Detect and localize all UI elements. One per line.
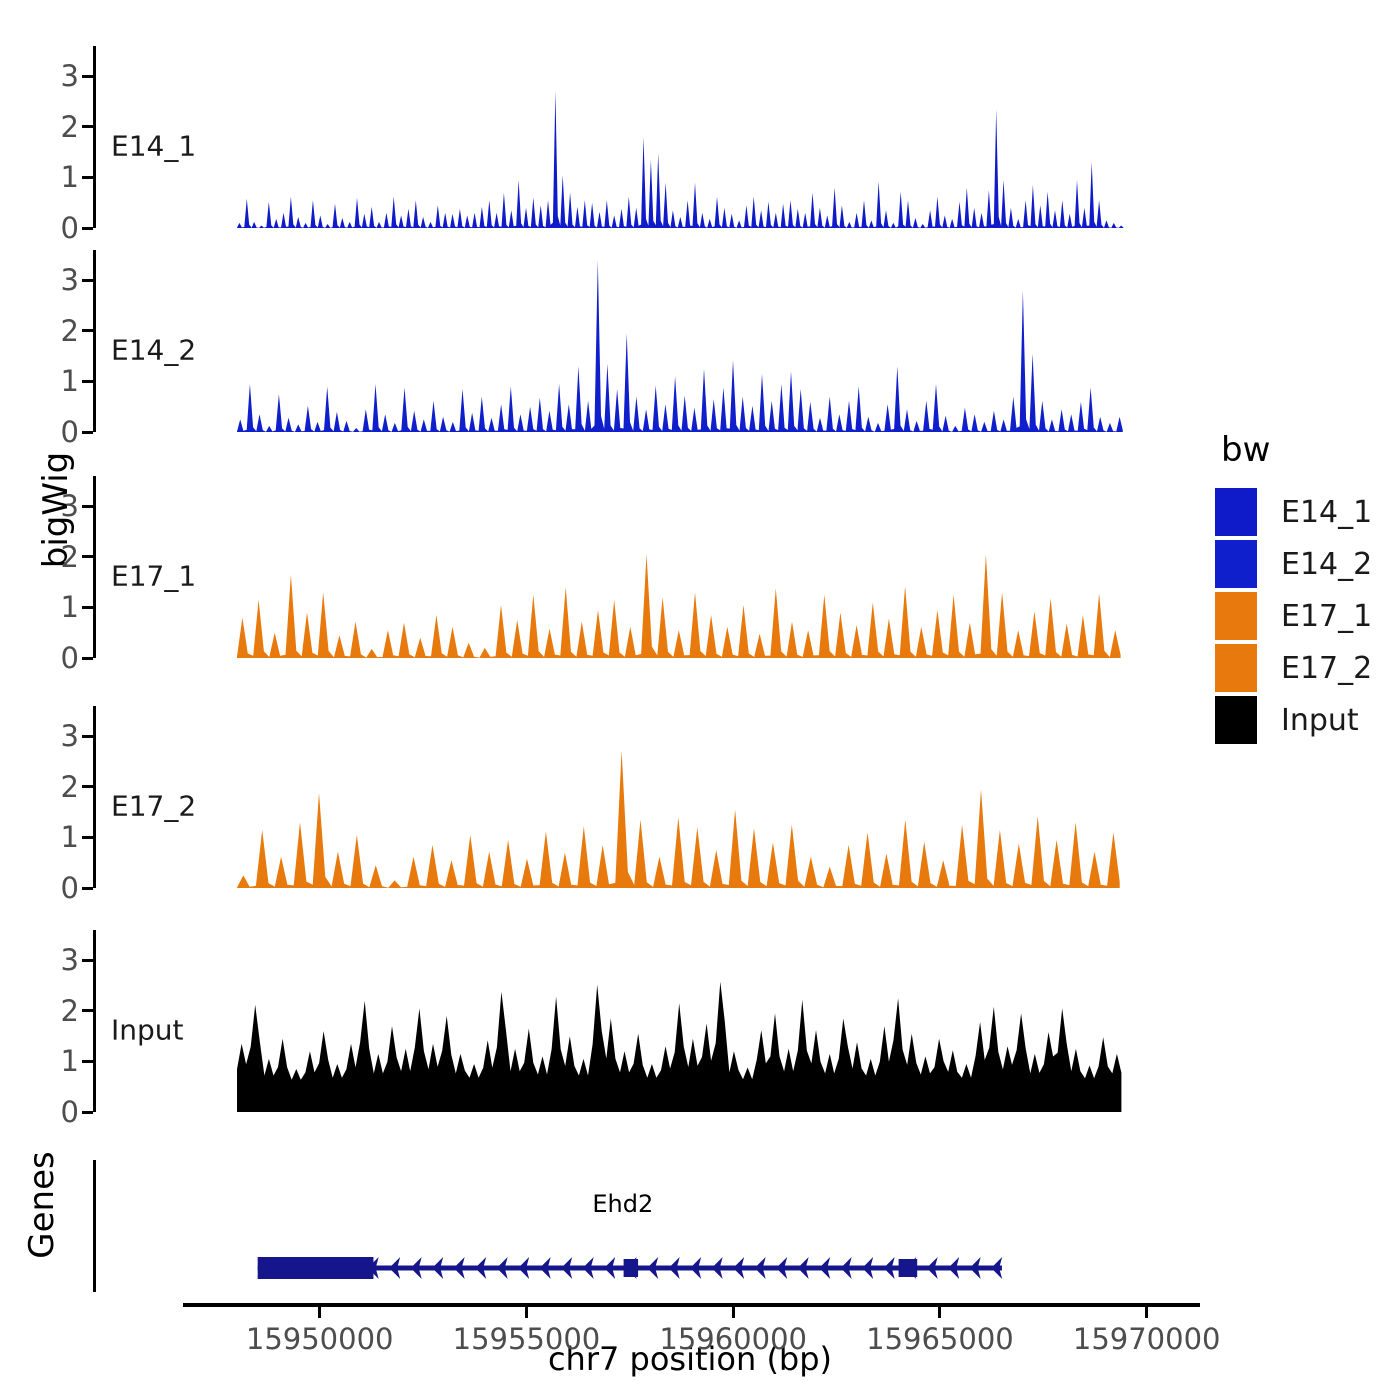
- legend-item-input[interactable]: Input: [1215, 694, 1372, 746]
- x-tick-label: 15950000: [246, 1322, 394, 1356]
- y-tick: [82, 75, 93, 78]
- legend-item-e14_2[interactable]: E14_2: [1215, 538, 1372, 590]
- y-tick-label: 1: [61, 160, 79, 194]
- legend-label: Input: [1281, 703, 1359, 738]
- y-tick-label: 2: [61, 314, 79, 348]
- y-tick: [82, 785, 93, 788]
- legend-swatch: [1215, 488, 1257, 536]
- signal-path: [237, 982, 1121, 1112]
- y-tick: [82, 959, 93, 962]
- y-tick: [82, 279, 93, 282]
- gene-model-ehd2: [0, 1235, 1400, 1297]
- y-tick-label: 3: [61, 263, 79, 297]
- y-tick: [82, 176, 93, 179]
- gene-exon: [258, 1257, 374, 1279]
- panel-axis-line: [93, 476, 96, 658]
- legend-swatch: [1215, 644, 1257, 692]
- y-tick: [82, 1060, 93, 1063]
- legend-title: bw: [1221, 430, 1372, 470]
- legend-label: E14_1: [1281, 495, 1372, 530]
- y-tick: [82, 329, 93, 332]
- y-tick-label: 1: [61, 820, 79, 854]
- x-axis-line: [183, 1303, 1200, 1307]
- signal-path: [237, 751, 1120, 889]
- gene-name-label: Ehd2: [592, 1190, 653, 1218]
- y-tick: [82, 555, 93, 558]
- y-tick: [82, 505, 93, 508]
- track-label-input: Input: [111, 1014, 184, 1047]
- legend-label: E17_2: [1281, 651, 1372, 686]
- y-tick: [82, 380, 93, 383]
- y-tick: [82, 657, 93, 660]
- y-tick-label: 3: [61, 943, 79, 977]
- x-tick-label: 15960000: [659, 1322, 807, 1356]
- panel-axis-line: [93, 250, 96, 432]
- y-tick-label: 0: [61, 211, 79, 245]
- y-tick: [82, 1111, 93, 1114]
- track-panel-e17_1: 0123E17_1: [93, 476, 1166, 658]
- panel-axis-line: [93, 706, 96, 888]
- y-tick-label: 1: [61, 1044, 79, 1078]
- signal-area-e14_2: [237, 250, 1126, 432]
- y-tick: [82, 836, 93, 839]
- y-tick: [82, 606, 93, 609]
- gene-exon: [624, 1259, 638, 1277]
- legend: bw E14_1E14_2E17_1E17_2Input: [1215, 430, 1372, 746]
- track-label-e14_2: E14_2: [111, 334, 196, 367]
- x-tick: [1145, 1307, 1148, 1318]
- legend-item-e17_2[interactable]: E17_2: [1215, 642, 1372, 694]
- panel-axis-line: [93, 930, 96, 1112]
- y-tick-label: 0: [61, 1095, 79, 1129]
- y-tick: [82, 735, 93, 738]
- y-tick-label: 3: [61, 719, 79, 753]
- y-tick-label: 2: [61, 770, 79, 804]
- y-tick-label: 3: [61, 59, 79, 93]
- track-label-e14_1: E14_1: [111, 130, 196, 163]
- y-tick-label: 0: [61, 641, 79, 675]
- y-tick: [82, 125, 93, 128]
- track-panel-input: 0123Input: [93, 930, 1166, 1112]
- y-tick: [82, 431, 93, 434]
- signal-path: [237, 554, 1121, 658]
- x-tick: [525, 1307, 528, 1318]
- x-tick: [938, 1307, 941, 1318]
- x-tick-label: 15970000: [1073, 1322, 1221, 1356]
- y-tick-label: 0: [61, 415, 79, 449]
- y-tick: [82, 887, 93, 890]
- y-tick-label: 3: [61, 489, 79, 523]
- track-panel-e17_2: 0123E17_2: [93, 706, 1166, 888]
- y-tick-label: 1: [61, 364, 79, 398]
- y-tick-label: 2: [61, 994, 79, 1028]
- legend-item-e17_1[interactable]: E17_1: [1215, 590, 1372, 642]
- legend-swatch: [1215, 540, 1257, 588]
- signal-path: [237, 260, 1123, 432]
- signal-area-e14_1: [237, 46, 1126, 228]
- y-tick-label: 2: [61, 110, 79, 144]
- y-tick: [82, 1009, 93, 1012]
- y-tick: [82, 227, 93, 230]
- x-tick-label: 15965000: [866, 1322, 1014, 1356]
- track-panel-e14_2: 0123E14_2: [93, 250, 1166, 432]
- legend-items: E14_1E14_2E17_1E17_2Input: [1215, 486, 1372, 746]
- track-label-e17_2: E17_2: [111, 790, 196, 823]
- legend-item-e14_1[interactable]: E14_1: [1215, 486, 1372, 538]
- y-tick-label: 0: [61, 871, 79, 905]
- signal-area-input: [237, 930, 1126, 1112]
- x-tick: [318, 1307, 321, 1318]
- y-tick-label: 1: [61, 590, 79, 624]
- legend-swatch: [1215, 696, 1257, 744]
- signal-area-e17_2: [237, 706, 1126, 888]
- panel-axis-line: [93, 46, 96, 228]
- legend-swatch: [1215, 592, 1257, 640]
- x-tick: [732, 1307, 735, 1318]
- track-panel-e14_1: 0123E14_1: [93, 46, 1166, 228]
- gene-exon: [899, 1259, 918, 1277]
- signal-path: [237, 91, 1124, 229]
- legend-label: E14_2: [1281, 547, 1372, 582]
- x-tick-label: 15955000: [453, 1322, 601, 1356]
- track-label-e17_1: E17_1: [111, 560, 196, 593]
- legend-label: E17_1: [1281, 599, 1372, 634]
- y-tick-label: 2: [61, 540, 79, 574]
- signal-area-e17_1: [237, 476, 1126, 658]
